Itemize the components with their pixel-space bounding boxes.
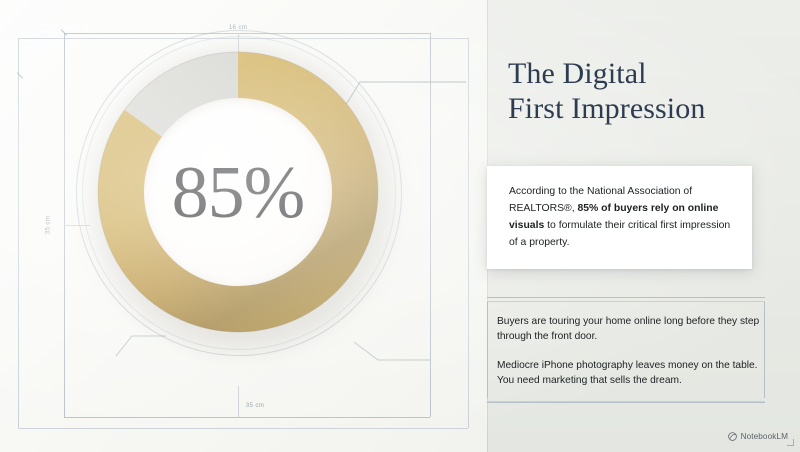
callout-leader-line-right — [352, 338, 432, 368]
note-paragraph-2: Mediocre iPhone photography leaves money… — [497, 358, 765, 389]
notes-rule-bottom — [487, 402, 765, 403]
notes-bracket: Buyers are touring your home online long… — [487, 302, 765, 398]
corner-registration-mark — [787, 439, 794, 446]
notebooklm-watermark: NotebookLM — [728, 432, 788, 441]
page-title: The Digital First Impression — [508, 56, 798, 127]
dimension-line-bottom — [64, 417, 430, 418]
slide-canvas: 16 cm 35 cm 35 cm — [0, 0, 800, 452]
frame-line-bottom-outer — [18, 428, 468, 429]
notebooklm-watermark-label: NotebookLM — [741, 432, 788, 441]
notebooklm-spark-icon — [728, 432, 737, 441]
note-paragraph-1: Buyers are touring your home online long… — [497, 314, 765, 345]
donut-chart: 85% — [88, 42, 388, 342]
donut-center-value: 85% — [172, 156, 305, 230]
statistic-card-text: According to the National Association of… — [509, 184, 732, 251]
headline-line-1: The Digital — [508, 56, 798, 91]
donut-center: 85% — [144, 98, 332, 286]
statistic-card: According to the National Association of… — [487, 166, 752, 269]
frame-line-left-outer — [18, 38, 19, 428]
axis-center-vertical-bottom — [238, 386, 239, 417]
dimension-label-left: 35 cm — [45, 216, 52, 235]
notes-rule-top — [487, 297, 765, 298]
corner-tick-left-upper — [16, 72, 23, 79]
headline-line-2: First Impression — [508, 91, 798, 126]
notes-block: Buyers are touring your home online long… — [487, 297, 765, 403]
corner-tick-top-left — [60, 29, 67, 36]
dimension-label-bottom: 35 cm — [246, 402, 265, 409]
